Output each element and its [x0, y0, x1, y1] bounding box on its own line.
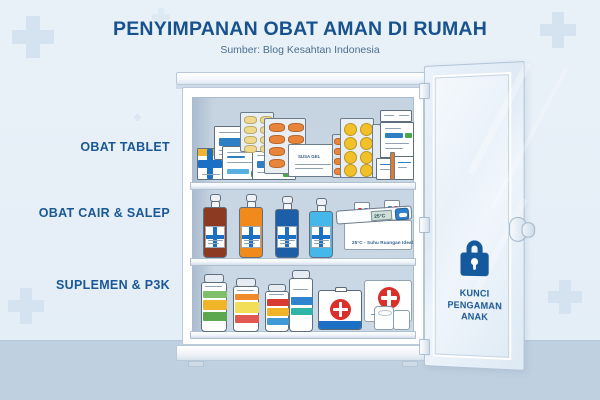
medicine-box-8[interactable]: [394, 156, 414, 180]
child-lock-text: KUNCI PENGAMAN ANAK: [425, 287, 526, 325]
supplement-bottle-red[interactable]: [264, 284, 290, 332]
shelf-bottom-contents: [194, 264, 412, 332]
cabinet-foot-right: [402, 361, 418, 367]
ointment-tube-susa-gel[interactable]: SUSA GEL: [288, 144, 336, 177]
medicine-box-5[interactable]: [380, 110, 412, 122]
thermometer-info-card: 25°C - Suhu Ruangan Ideal: [344, 220, 412, 250]
cabinet-foot-left: [188, 361, 204, 367]
gauze-roll-1[interactable]: [374, 306, 394, 330]
shelf-middle-contents: 25°C - Suhu Ruangan Ideal 25°C: [194, 186, 412, 258]
medicine-strip-orange[interactable]: [390, 152, 395, 180]
thermometer-caption: 25°C - Suhu Ruangan Ideal: [352, 240, 413, 245]
medicine-cabinet[interactable]: SUSA GEL: [182, 72, 424, 368]
blister-pack-yellow[interactable]: [340, 118, 374, 178]
cabinet-cornice: [176, 72, 430, 85]
door-hinge-top: [419, 83, 430, 99]
decor-cross-icon: [548, 280, 582, 314]
shelf-top-contents: SUSA GEL: [194, 100, 412, 182]
syrup-bottle-lightblue[interactable]: [308, 198, 334, 258]
child-lock-callout: KUNCI PENGAMAN ANAK: [425, 235, 526, 325]
syrup-bottle-brown[interactable]: [202, 194, 228, 258]
shelf-board-bottom: [190, 331, 416, 339]
syrup-bottle-darkblue[interactable]: [274, 196, 300, 258]
first-aid-kit-blue[interactable]: [318, 290, 362, 330]
shelf-label-suplemen-p3k: SUPLEMEN & P3K: [56, 278, 170, 292]
infographic-canvas: PENYIMPANAN OBAT AMAN DI RUMAH Sumber: B…: [0, 0, 600, 400]
door-hinge-bottom: [419, 339, 430, 355]
door-hinge-middle: [419, 217, 430, 233]
shelf-label-column: OBAT TABLET OBAT CAIR & SALEP SUPLEMEN &…: [0, 0, 186, 400]
shelf-label-obat-tablet: OBAT TABLET: [80, 140, 170, 154]
tube-label: SUSA GEL: [298, 154, 320, 159]
cabinet-base: [176, 345, 430, 361]
shelf-label-obat-cair-salep: OBAT CAIR & SALEP: [39, 206, 170, 220]
medicine-box-6[interactable]: [380, 122, 414, 158]
padlock-icon: [456, 235, 494, 283]
gauze-roll-2[interactable]: [393, 310, 410, 330]
cabinet-glass-door[interactable]: KUNCI PENGAMAN ANAK: [424, 61, 525, 371]
supplement-bottle-blue[interactable]: [288, 270, 314, 332]
thermometer-reading: 25°C: [374, 213, 386, 220]
syrup-bottle-orange[interactable]: [238, 194, 264, 258]
supplement-bottle-green[interactable]: [200, 274, 228, 332]
supplement-bottle-orange[interactable]: [232, 278, 260, 332]
